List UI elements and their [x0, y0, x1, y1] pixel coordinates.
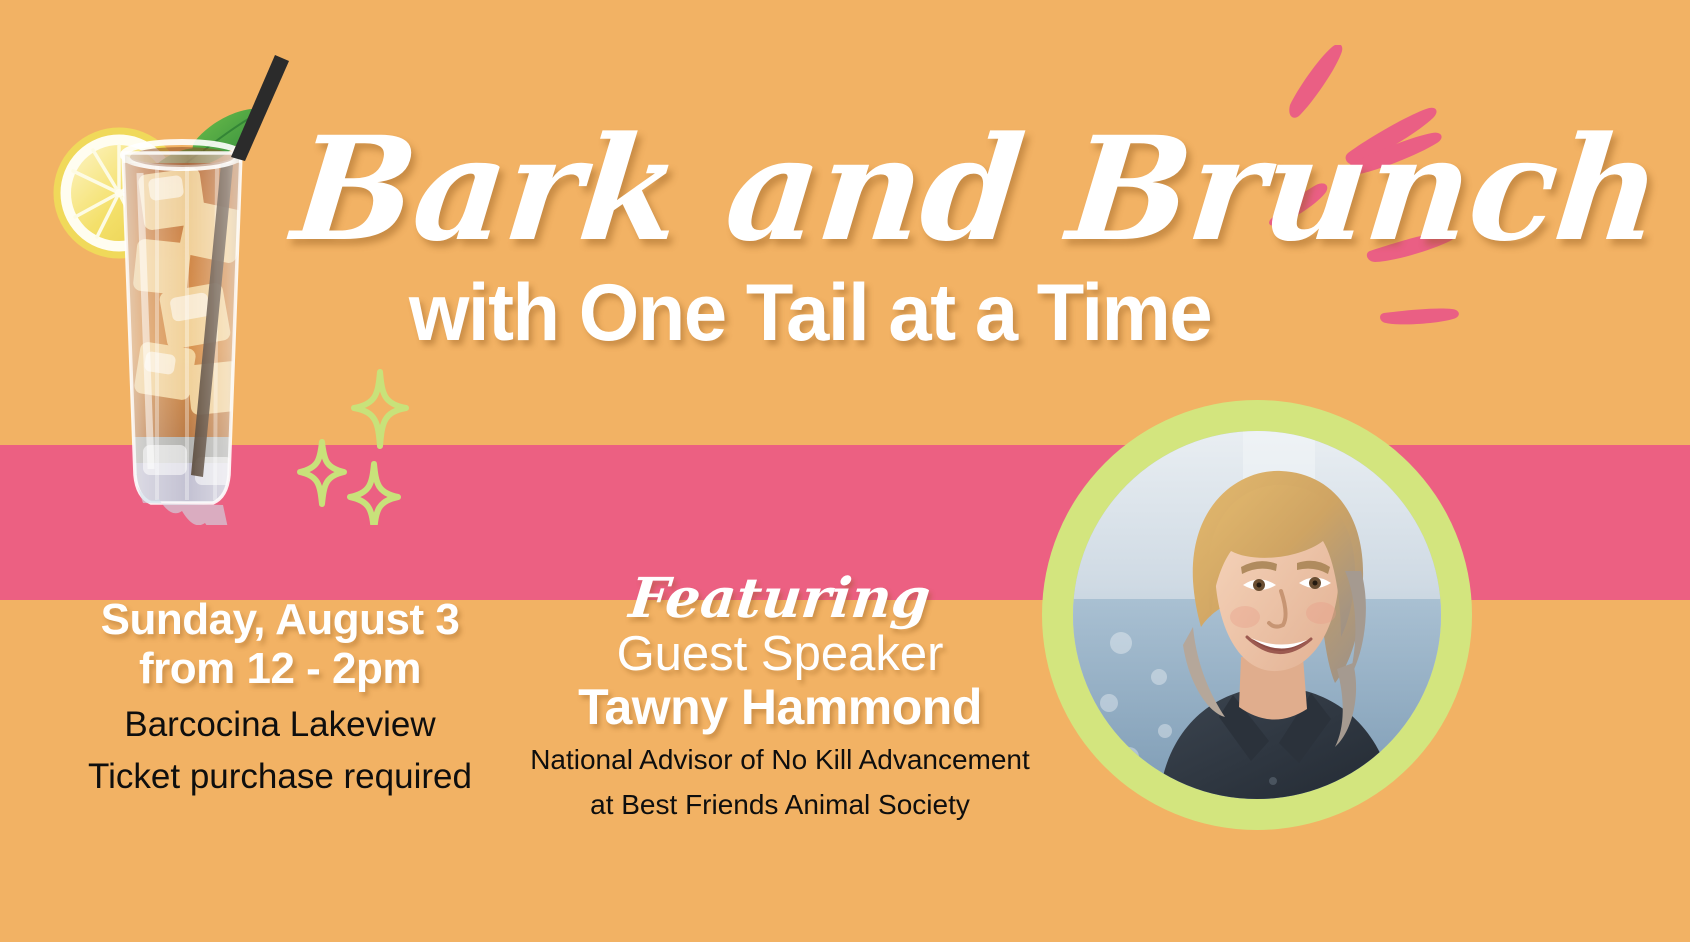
straw	[231, 55, 289, 161]
speaker-title-line-2: at Best Friends Animal Society	[480, 787, 1080, 824]
page-title: Bark and Brunch	[287, 118, 1332, 261]
speaker-name: Tawny Hammond	[480, 681, 1080, 734]
sparkle-icon	[280, 360, 430, 525]
featuring-label: Featuring	[477, 570, 1083, 625]
ticket-note: Ticket purchase required	[30, 756, 530, 799]
iced-tea-illustration	[45, 45, 315, 525]
avatar	[1073, 431, 1441, 799]
event-flyer: Bark and Brunch with One Tail at a Time …	[0, 0, 1690, 942]
glass	[115, 142, 255, 525]
speaker-block: Featuring Guest Speaker Tawny Hammond Na…	[480, 570, 1080, 824]
event-date-line-1: Sunday, August 3	[30, 595, 530, 644]
speaker-role-label: Guest Speaker	[480, 629, 1080, 681]
speaker-portrait-ring	[1042, 400, 1472, 830]
event-venue: Barcocina Lakeview	[30, 704, 530, 747]
headline-block: Bark and Brunch with One Tail at a Time	[295, 118, 1325, 356]
event-details-block: Sunday, August 3 from 12 - 2pm Barcocina…	[30, 595, 530, 799]
speaker-title-line-1: National Advisor of No Kill Advancement	[480, 742, 1080, 779]
page-subtitle: with One Tail at a Time	[316, 271, 1305, 356]
event-time-line: from 12 - 2pm	[30, 644, 530, 693]
